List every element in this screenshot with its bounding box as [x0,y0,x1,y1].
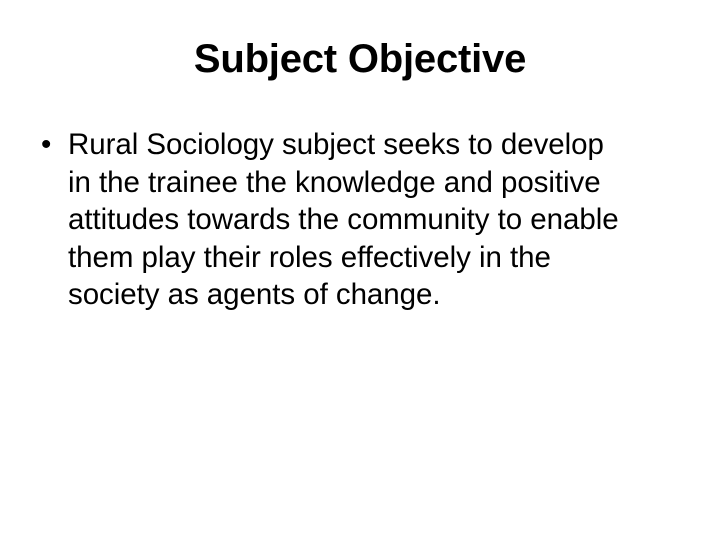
page-title: Subject Objective [0,36,720,82]
bullet-line: them play their roles effectively in the [68,239,686,277]
round-bullet-icon: • [36,126,68,164]
bullet-line: in the trainee the knowledge and positiv… [68,164,686,202]
bullet-line: society as agents of change. [68,276,686,314]
bullet-text: Rural Sociology subject seeks to develop… [68,126,686,314]
bullet-line: Rural Sociology subject seeks to develop [68,126,686,164]
body-content-placeholder: • Rural Sociology subject seeks to devel… [36,126,686,314]
list-item: • Rural Sociology subject seeks to devel… [36,126,686,314]
bullet-line: attitudes towards the community to enabl… [68,201,686,239]
slide-canvas: Subject Objective • Rural Sociology subj… [0,0,720,540]
